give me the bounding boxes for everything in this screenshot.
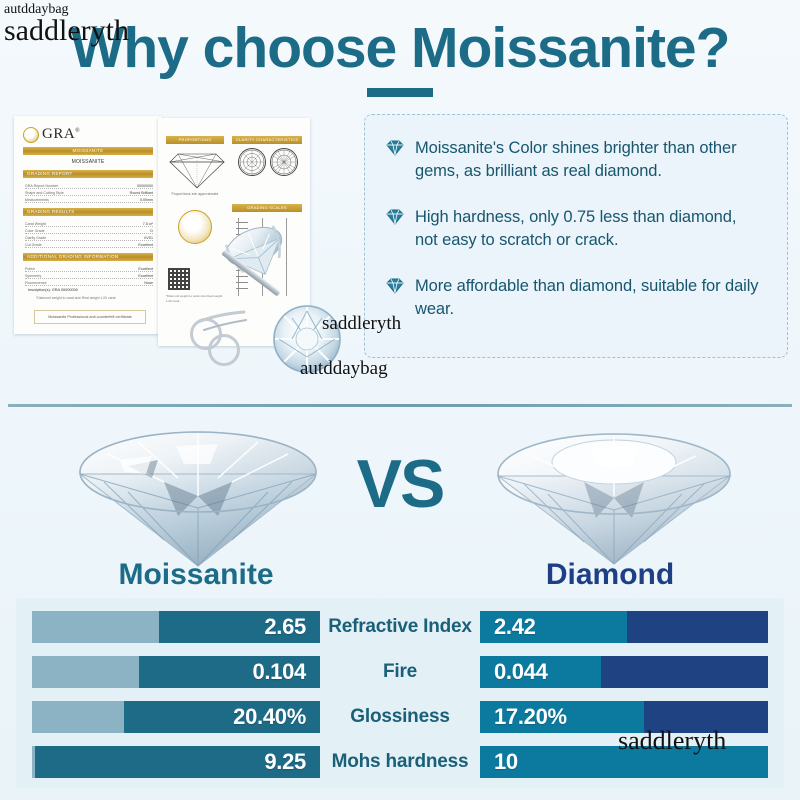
benefit-item: Moissanite's Color shines brighter than …	[385, 137, 761, 184]
gem-icon	[385, 209, 405, 225]
feature-label: Mohs hardness	[320, 751, 480, 773]
cert-report-row: Measurements5.00mm	[25, 196, 153, 203]
loose-moissanite-stone-icon	[270, 302, 344, 376]
gem-name-diamond: Diamond	[460, 560, 760, 590]
diagram-label-clarity: CLARITY CHARACTERISTICS	[232, 136, 302, 144]
bar-diamond: 10	[480, 746, 768, 778]
clarity-plot-icon	[238, 148, 266, 176]
cert-result-row: Carat Weight7.5 ct*	[25, 220, 153, 227]
benefit-text: High hardness, only 0.75 less than diamo…	[415, 206, 761, 253]
benefits-card: Moissanite's Color shines brighter than …	[364, 114, 788, 358]
feature-label: Fire	[320, 661, 480, 683]
diagram-label-proportions: PROPORTIONS	[166, 136, 224, 144]
value-moissanite: 9.25	[264, 749, 320, 775]
diamond-photo	[486, 418, 746, 568]
bar-moissanite: 0.104	[32, 656, 320, 688]
infographic-page: Why choose Moissanite? GRA® MOISSANITE M…	[0, 0, 800, 800]
gem-name-moissanite: Moissanite	[46, 560, 346, 590]
table-row: 2.65 Refractive Index 2.42	[16, 606, 784, 647]
certificate-collage: GRA® MOISSANITE MOISSANITE GRADING REPOR…	[8, 112, 353, 390]
cert-moissanite-label: MOISSANITE	[23, 159, 153, 165]
title-underline	[367, 88, 433, 97]
bar-moissanite: 20.40%	[32, 701, 320, 733]
page-header: Why choose Moissanite?	[0, 0, 800, 105]
value-diamond: 10	[480, 749, 518, 775]
cert-additional-row: SymmetryExcellent	[25, 272, 153, 279]
table-row: 0.104 Fire 0.044	[16, 651, 784, 692]
value-moissanite: 0.104	[252, 659, 320, 685]
cert-anticounterfeit-box: Moissanite Professional anti-counterfeit…	[34, 310, 146, 324]
bar-fill	[480, 746, 768, 778]
benefit-item: More affordable than diamond, suitable f…	[385, 275, 761, 322]
page-title: Why choose Moissanite?	[0, 20, 800, 77]
feature-label: Refractive Index	[320, 616, 480, 638]
cert-result-row: Color GradeD	[25, 227, 153, 234]
cert-band-grading-report: GRADING REPORT	[23, 170, 153, 178]
cert-additional-row: PolishExcellent	[25, 265, 153, 272]
table-row: 9.25 Mohs hardness 10	[16, 741, 784, 782]
value-diamond: 2.42	[480, 614, 536, 640]
gra-seal-icon	[23, 127, 39, 143]
cert-band-grading-results: GRADING RESULTS	[23, 208, 153, 216]
value-diamond: 0.044	[480, 659, 548, 685]
cert-result-row: Clarity GradeVVS1	[25, 234, 153, 241]
gem-icon	[385, 140, 405, 156]
bar-diamond: 0.044	[480, 656, 768, 688]
benefit-text: More affordable than diamond, suitable f…	[415, 275, 761, 322]
bar-diamond: 17.20%	[480, 701, 768, 733]
feature-label: Glossiness	[320, 706, 480, 728]
certificate-page-left: GRA® MOISSANITE MOISSANITE GRADING REPOR…	[14, 116, 162, 334]
bar-moissanite: 9.25	[32, 746, 320, 778]
section-divider	[8, 404, 792, 407]
gra-brand-text: GRA®	[42, 126, 80, 143]
cert-band-additional-info: ADDITIONAL GRADING INFORMATION	[23, 253, 153, 261]
cert-inscription: Inscription(s): GRA 00000000	[28, 288, 151, 294]
benefit-text: Moissanite's Color shines brighter than …	[415, 137, 761, 184]
gra-logo: GRA®	[23, 126, 80, 143]
cert-band-moissanite: MOISSANITE	[23, 147, 153, 155]
top-section: GRA® MOISSANITE MOISSANITE GRADING REPOR…	[0, 108, 800, 396]
benefit-item: High hardness, only 0.75 less than diamo…	[385, 206, 761, 253]
moissanite-earring-photo	[186, 224, 326, 374]
cert-footnote: *Diamond weight to carat size Real weigh…	[36, 296, 151, 301]
cert-report-row: GRA Report Number00000000	[25, 182, 153, 189]
cert-report-row: Shape and Cutting StyleRound Brilliant	[25, 189, 153, 196]
value-moissanite: 20.40%	[233, 704, 320, 730]
value-moissanite: 2.65	[264, 614, 320, 640]
bar-diamond: 2.42	[480, 611, 768, 643]
bar-moissanite: 2.65	[32, 611, 320, 643]
proportions-caption: Proportions are approximate	[164, 192, 226, 196]
value-diamond: 17.20%	[480, 704, 567, 730]
comparison-table: 2.65 Refractive Index 2.42 0.104 Fire 0.…	[16, 598, 784, 788]
earring-butterfly-back-icon	[188, 308, 252, 364]
gem-icon	[385, 278, 405, 294]
cert-additional-row: FluorescenceNone	[25, 279, 153, 286]
clarity-pavilion-icon	[270, 148, 298, 176]
versus-section: VS	[0, 412, 800, 592]
diagram-label-scales: GRADING SCALES	[232, 204, 302, 212]
proportions-diagram-icon	[166, 148, 228, 190]
table-row: 20.40% Glossiness 17.20%	[16, 696, 784, 737]
cert-result-row: Cut GradeExcellent	[25, 241, 153, 248]
